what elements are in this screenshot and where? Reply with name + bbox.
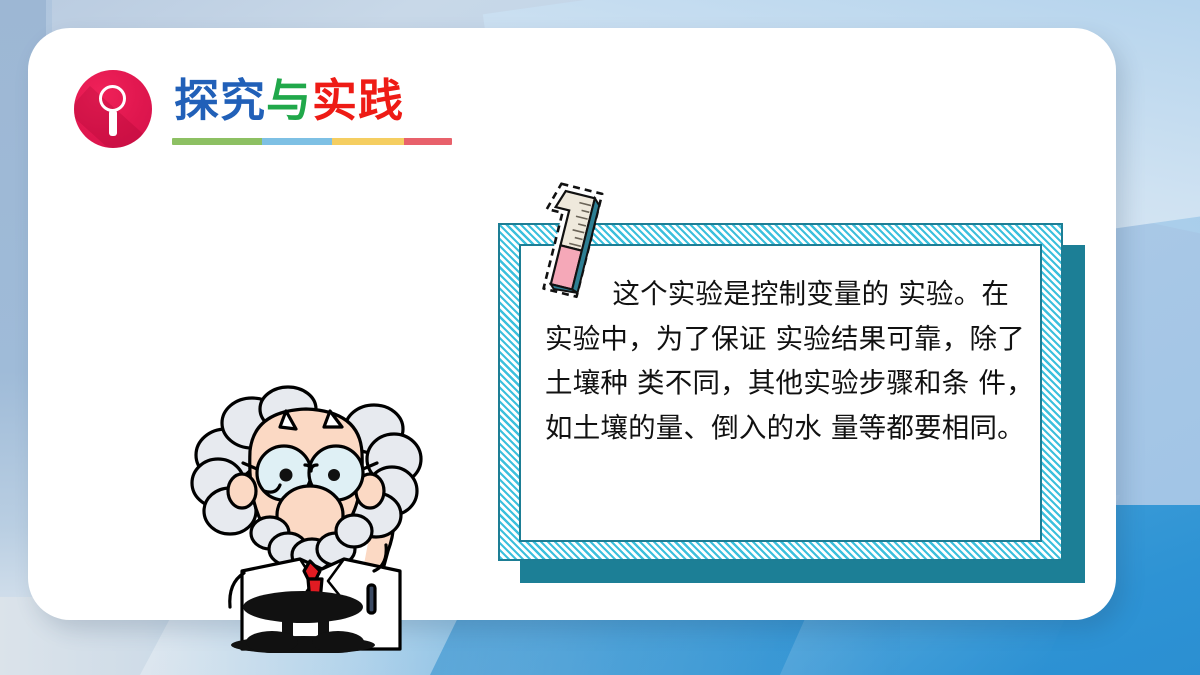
title-part-1: 探究 bbox=[174, 74, 266, 127]
underline-segment-red bbox=[404, 138, 452, 145]
scientist-illustration bbox=[178, 363, 428, 653]
title-part-2: 与 bbox=[266, 74, 312, 127]
underline-segment-green bbox=[172, 138, 262, 145]
callout-line-1: 这个实验是控制变量的 实验。在 bbox=[545, 272, 1024, 317]
underline-segment-blue bbox=[262, 138, 332, 145]
underline-segment-yellow bbox=[332, 138, 405, 145]
magnifier-handle bbox=[109, 110, 117, 136]
title-underline-bar bbox=[172, 138, 452, 145]
content-card: 探究与实践 bbox=[28, 28, 1116, 620]
callout-text: 这个实验是控制变量的 实验。在 实验中，为了保证 实验结果可靠，除了 土壤种 类… bbox=[545, 272, 1024, 450]
magnifier-lens bbox=[99, 85, 126, 112]
magnifier-icon bbox=[74, 70, 152, 148]
callout-box: 这个实验是控制变量的 实验。在 实验中，为了保证 实验结果可靠，除了 土壤种 类… bbox=[498, 223, 1063, 563]
number-badge-1 bbox=[520, 181, 616, 299]
callout-line-2: 实验中，为了保证 实验结果可靠，除了 bbox=[545, 317, 1024, 362]
header: 探究与实践 bbox=[54, 52, 474, 164]
slide-root: 探究与实践 bbox=[0, 0, 1200, 675]
title-part-3: 实践 bbox=[312, 74, 404, 127]
callout-line-3: 土壤种 类不同，其他实验步骤和条 件， bbox=[545, 361, 1024, 406]
magnifier-badge bbox=[74, 70, 152, 148]
callout-line-4: 如土壤的量、倒入的水 量等都要相同。 bbox=[545, 406, 1024, 451]
ruler-number-one-icon bbox=[520, 181, 616, 299]
page-title: 探究与实践 bbox=[174, 78, 404, 123]
cartoon-scientist bbox=[178, 363, 428, 653]
